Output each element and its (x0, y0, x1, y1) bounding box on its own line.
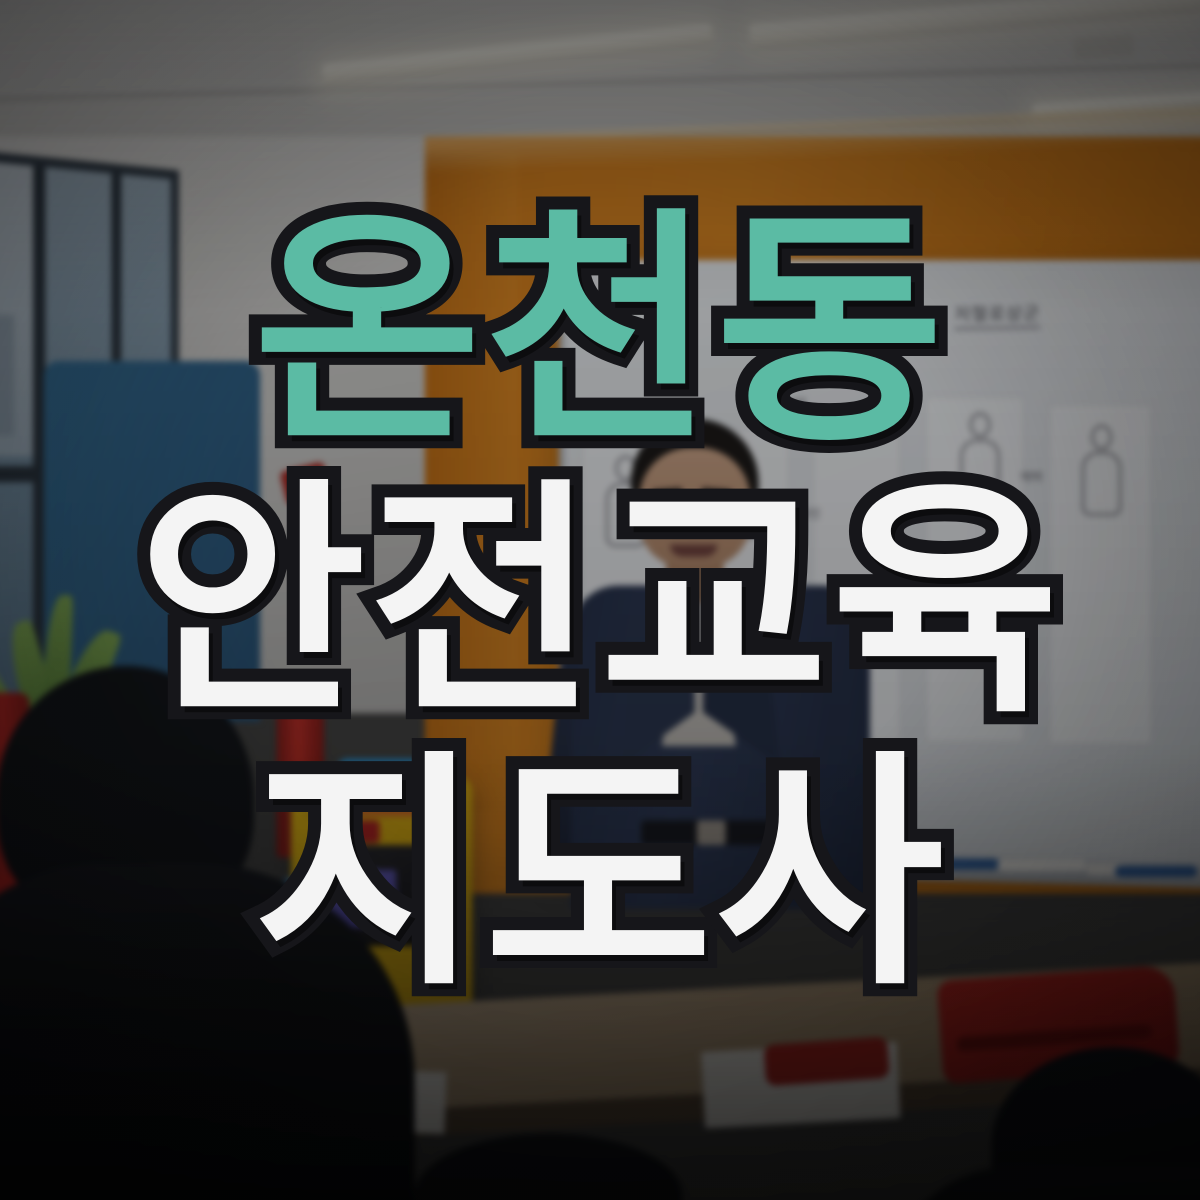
marker-icon (928, 859, 1000, 870)
wall-orange-return (425, 152, 518, 811)
ceiling-vent (1073, 34, 1134, 61)
marker-icon (1115, 866, 1197, 877)
aed-orange-stripe (328, 800, 429, 816)
instructor-eye (654, 501, 679, 509)
whiteboard-note: 맥박 (1020, 468, 1043, 486)
instructor-nose (684, 516, 700, 537)
student-body (888, 1167, 1200, 1200)
aed-button (417, 909, 440, 932)
marker-icon (998, 860, 1087, 871)
aed-button (417, 878, 440, 901)
student-head (415, 1134, 683, 1200)
background-photo: 심폐소생 회복의 저혈로상군 호흡 의식확인 맥박 확인 (0, 0, 1200, 1200)
whiteboard-figure-icon (1078, 425, 1125, 520)
instructor (555, 394, 885, 909)
instructor-mouth (670, 544, 717, 556)
instructor-eye (703, 501, 728, 509)
whiteboard-figure-icon (956, 413, 1003, 508)
whiteboard-heading: 저혈로상군 (954, 298, 1040, 329)
instructor-buckle (697, 820, 726, 845)
red-cloth (764, 1037, 890, 1087)
thumbnail-card: 심폐소생 회복의 저혈로상군 호흡 의식확인 맥박 확인 (0, 0, 1200, 1200)
whiteboard-note: 확인 (1026, 602, 1049, 620)
aed-logo (332, 820, 379, 843)
window-building (0, 313, 14, 436)
